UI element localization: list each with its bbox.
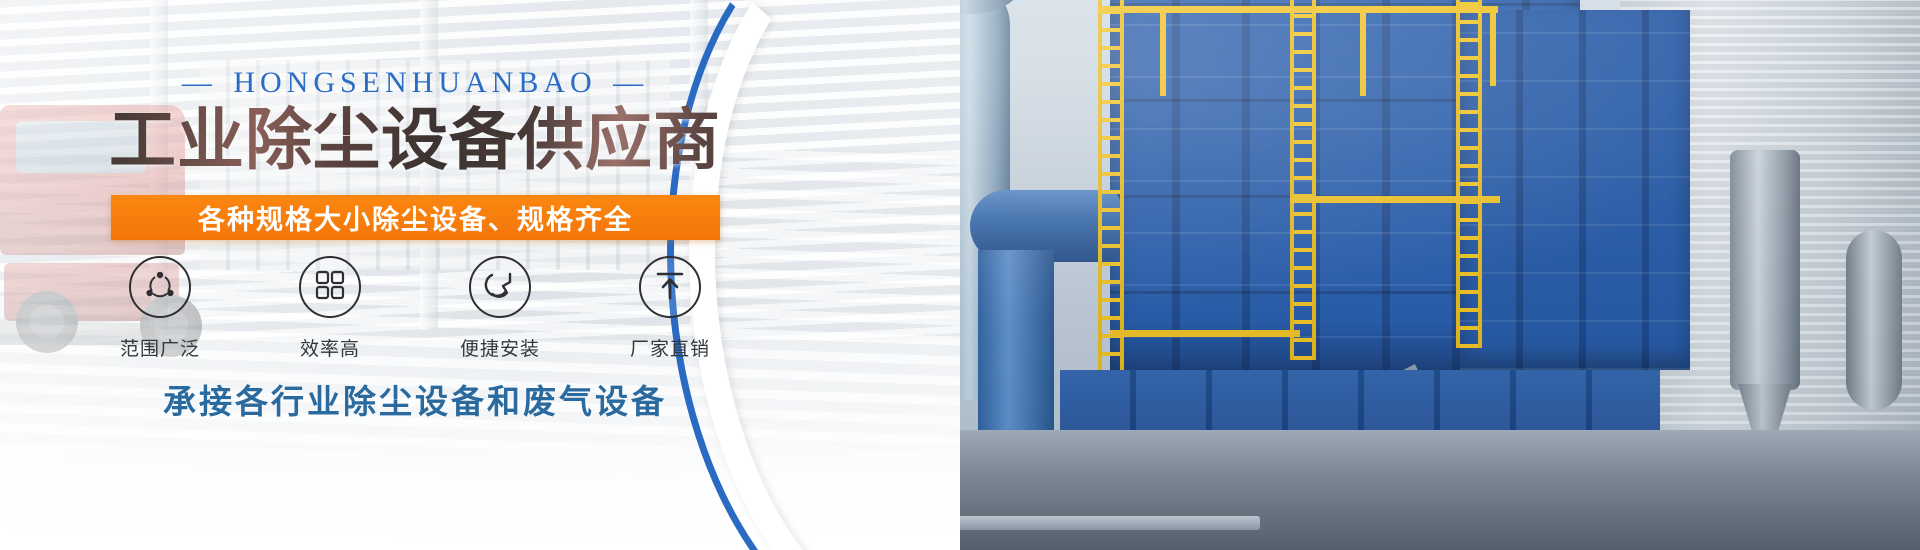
photo-right-pipe [1846, 230, 1902, 410]
grid-four-squares-icon [314, 269, 346, 306]
brand-tagline: — HONGSENHUANBAO — [0, 66, 830, 100]
feature-label-4: 厂家直销 [630, 334, 710, 361]
photo-handrail-mid [1290, 196, 1500, 203]
tagline-text: HONGSENHUANBAO [233, 66, 596, 99]
photo-handrail-low [1110, 330, 1300, 337]
hero-banner: — HONGSENHUANBAO — 工业除尘设备供应商 各种规格大小除尘设备、… [0, 0, 1920, 550]
photo-handrail-top [1098, 6, 1498, 13]
feature-item-4[interactable]: 厂家直销 [600, 256, 740, 361]
photo-rail-post-1 [1160, 6, 1166, 96]
photo-rail-post-2 [1360, 6, 1366, 96]
hero-subtitle: 承接各行业除尘设备和废气设备 [0, 375, 830, 423]
wrench-rotate-icon [483, 268, 517, 307]
feature-icon-circle-1 [129, 256, 191, 318]
feature-label-3: 便捷安装 [460, 334, 540, 361]
feature-label-2: 效率高 [300, 334, 360, 361]
feature-list: 范围广泛 效率高 [90, 256, 740, 361]
feature-item-2[interactable]: 效率高 [260, 256, 400, 361]
tagline-dash-left: — [178, 66, 221, 100]
share-nodes-icon [143, 268, 177, 307]
tagline-dash-right: — [609, 66, 652, 100]
feature-icon-circle-3 [469, 256, 531, 318]
feature-item-3[interactable]: 便捷安装 [430, 256, 570, 361]
feature-icon-circle-4 [639, 256, 701, 318]
hero-text-content: — HONGSENHUANBAO — 工业除尘设备供应商 各种规格大小除尘设备、… [0, 0, 860, 550]
photo-ladder-2 [1290, 0, 1316, 360]
page-title: 工业除尘设备供应商 [0, 104, 830, 178]
photo-ladder-3 [1456, 0, 1482, 348]
status-badge: 各种规格大小除尘设备、规格齐全 [111, 195, 720, 240]
feature-item-1[interactable]: 范围广泛 [90, 256, 230, 361]
photo-rail-post-3 [1490, 6, 1496, 86]
feature-icon-circle-2 [299, 256, 361, 318]
photo-cyclone-tank [1730, 150, 1800, 390]
badge-label: 各种规格大小除尘设备、规格齐全 [198, 198, 633, 237]
arrow-up-to-bar-icon [654, 269, 686, 306]
feature-label-1: 范围广泛 [120, 334, 200, 361]
